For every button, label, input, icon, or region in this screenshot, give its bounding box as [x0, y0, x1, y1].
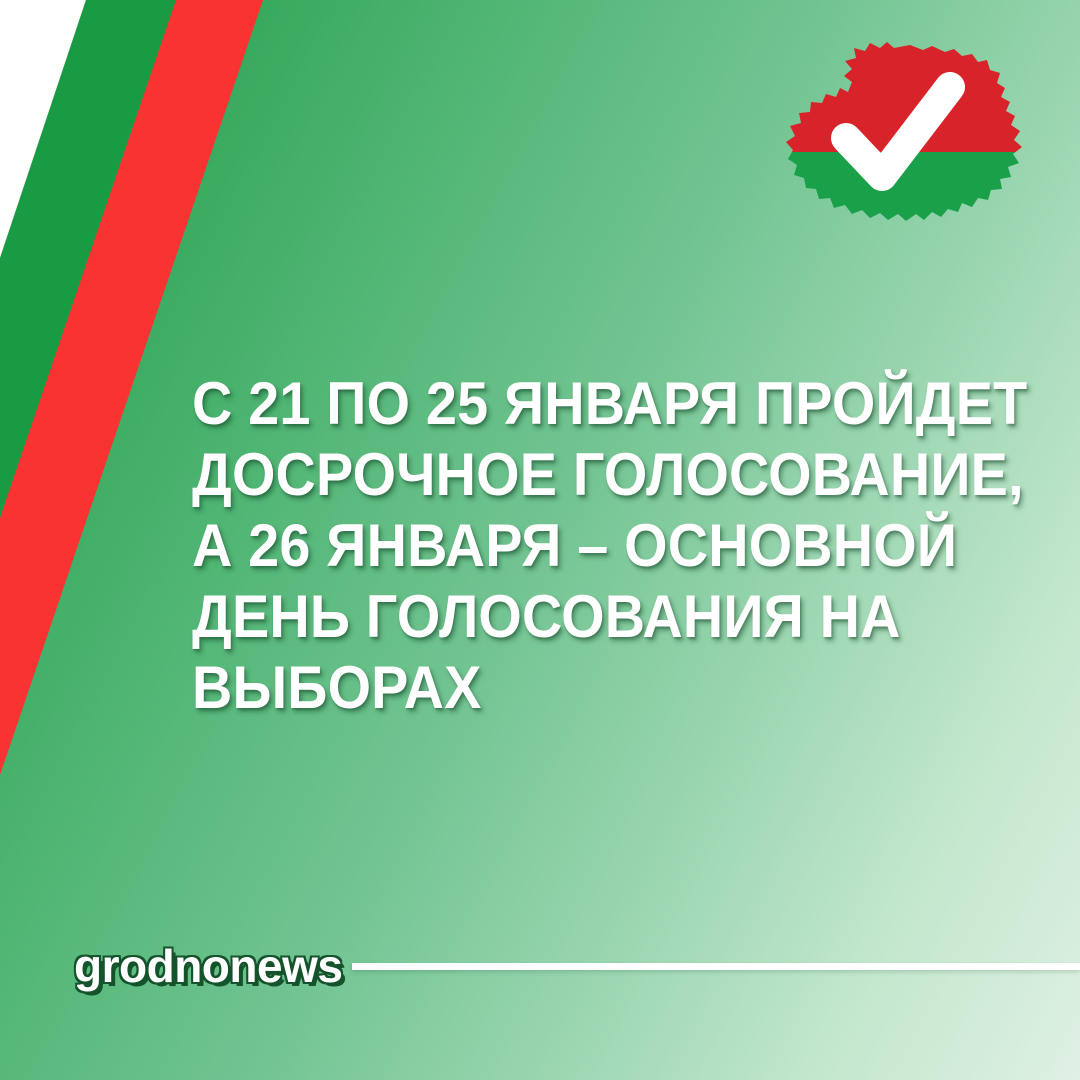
footer-divider: [352, 963, 1080, 970]
headline-line-5: ВЫБОРАХ: [192, 652, 955, 723]
brand-logo-text: grodnonews: [74, 930, 342, 1002]
headline-line-3: А 26 ЯНВАРЯ – ОСНОВНОЙ: [192, 510, 955, 581]
belarus-map-checkmark-icon: [782, 40, 1026, 245]
headline-line-1: С 21 ПО 25 ЯНВАРЯ ПРОЙДЕТ: [192, 368, 955, 439]
poster-canvas: С 21 ПО 25 ЯНВАРЯ ПРОЙДЕТ ДОСРОЧНОЕ ГОЛО…: [0, 0, 1080, 1080]
headline-line-4: ДЕНЬ ГОЛОСОВАНИЯ НА: [192, 581, 955, 652]
headline: С 21 ПО 25 ЯНВАРЯ ПРОЙДЕТ ДОСРОЧНОЕ ГОЛО…: [192, 368, 1012, 723]
footer: grodnonews: [0, 930, 1080, 1010]
headline-line-2: ДОСРОЧНОЕ ГОЛОСОВАНИЕ,: [192, 439, 955, 510]
